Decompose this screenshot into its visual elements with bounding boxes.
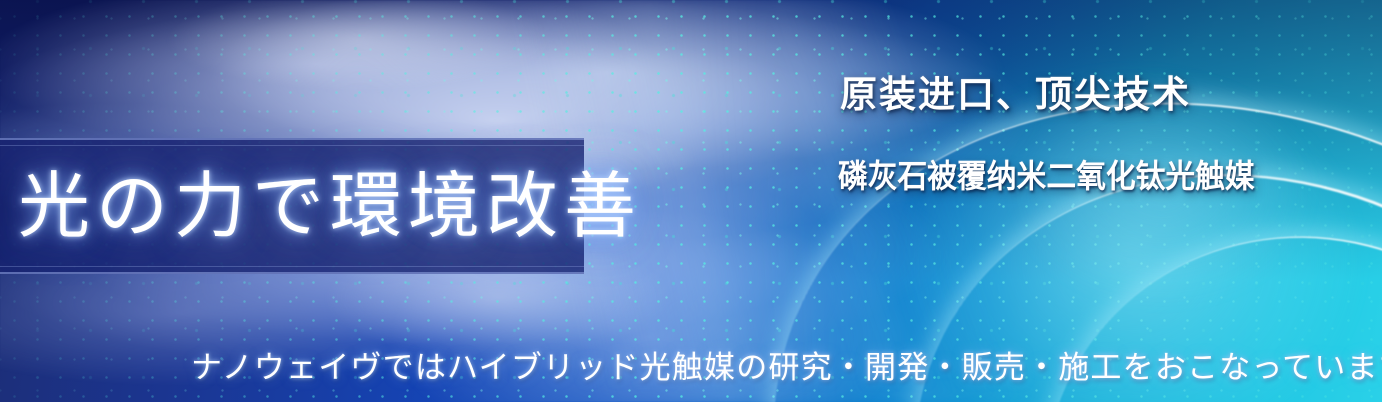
headline-text: 光の力で環境改善 [18, 165, 678, 247]
feature-line-primary: 原装进口、顶尖技术 [840, 73, 1191, 117]
tagline-text: ナノウェイヴではハイブリッド光触媒の研究・開発・販売・施工をおこなっています [191, 348, 1382, 388]
light-arc-outer [653, 0, 1382, 402]
feature-line-secondary: 磷灰石被覆纳米二氧化钛光触媒 [838, 157, 1255, 195]
arc-glow-bottom [822, 2, 1382, 402]
hero-banner: 光の力で環境改善 原装进口、顶尖技术 磷灰石被覆纳米二氧化钛光触媒 ナノウェイヴ… [0, 0, 1382, 402]
